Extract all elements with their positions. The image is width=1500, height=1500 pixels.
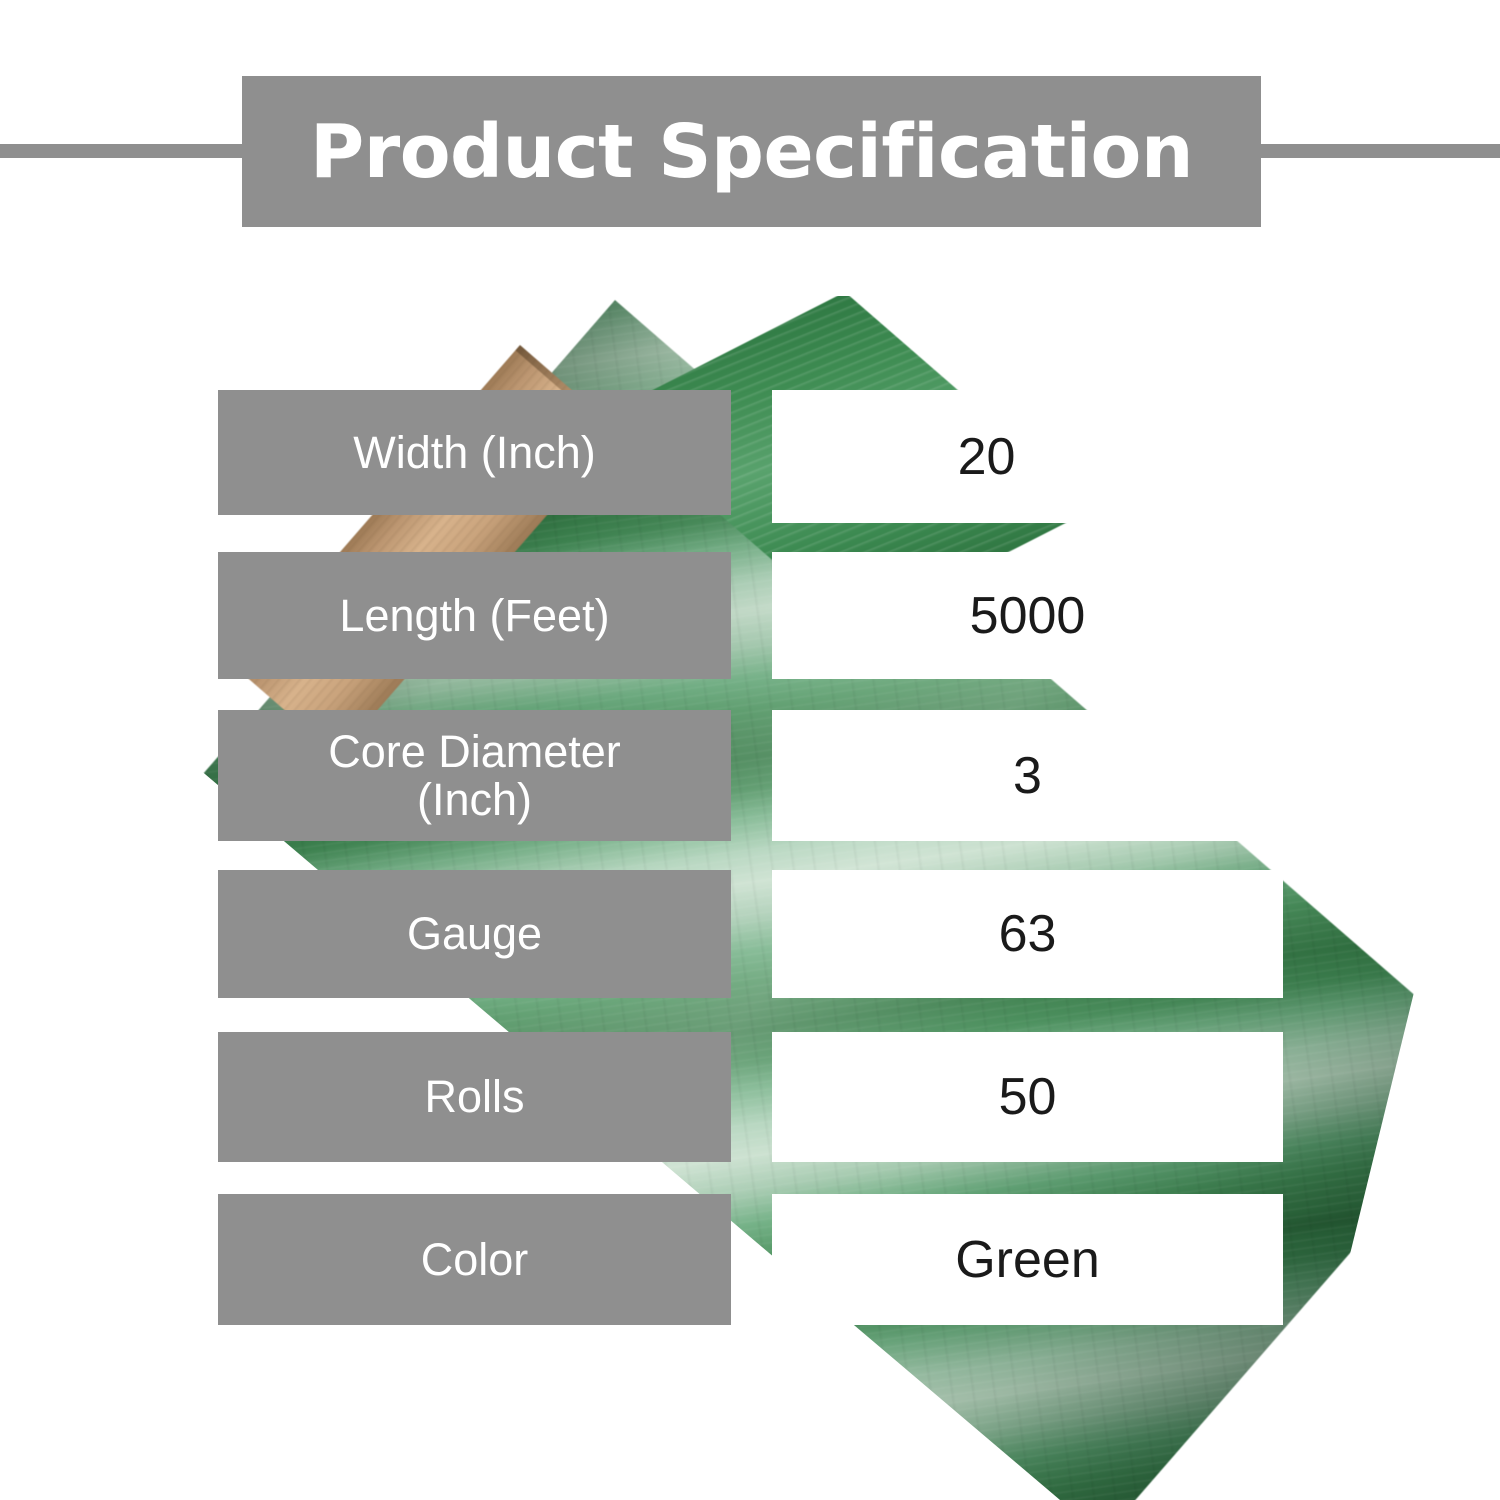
spec-value-cell-color: Green (772, 1194, 1283, 1325)
spec-value-rolls: 50 (999, 1071, 1057, 1123)
spec-value-cell-core-diameter: 3 (772, 710, 1283, 841)
spec-label-rolls: Rolls (414, 1073, 534, 1121)
spec-label-cell-width: Width (Inch) (218, 390, 731, 515)
spec-label-width: Width (Inch) (343, 429, 606, 477)
spec-value-cell-length: 5000 (772, 552, 1283, 679)
spec-value-length: 5000 (970, 590, 1086, 642)
spec-label-color: Color (411, 1236, 539, 1284)
spec-value-color: Green (955, 1234, 1100, 1286)
spec-label-cell-core-diameter: Core Diameter (Inch) (218, 710, 731, 841)
spec-value-cell-width: 20 (772, 390, 1201, 523)
spec-table: Width (Inch) 20 Length (Feet) 5000 Core … (0, 0, 1500, 1500)
spec-label-cell-gauge: Gauge (218, 870, 731, 998)
spec-value-cell-rolls: 50 (772, 1032, 1283, 1162)
spec-label-gauge: Gauge (397, 910, 552, 958)
spec-value-gauge: 63 (999, 908, 1057, 960)
spec-label-cell-color: Color (218, 1194, 731, 1325)
spec-label-length: Length (Feet) (329, 592, 619, 640)
spec-label-core-diameter: Core Diameter (Inch) (318, 728, 631, 823)
spec-value-cell-gauge: 63 (772, 870, 1283, 998)
spec-value-core-diameter: 3 (1013, 750, 1042, 802)
spec-label-cell-rolls: Rolls (218, 1032, 731, 1162)
spec-value-width: 20 (958, 431, 1016, 483)
spec-label-cell-length: Length (Feet) (218, 552, 731, 679)
product-specification-graphic: Product Specification Width (Inch) 20 Le… (0, 0, 1500, 1500)
